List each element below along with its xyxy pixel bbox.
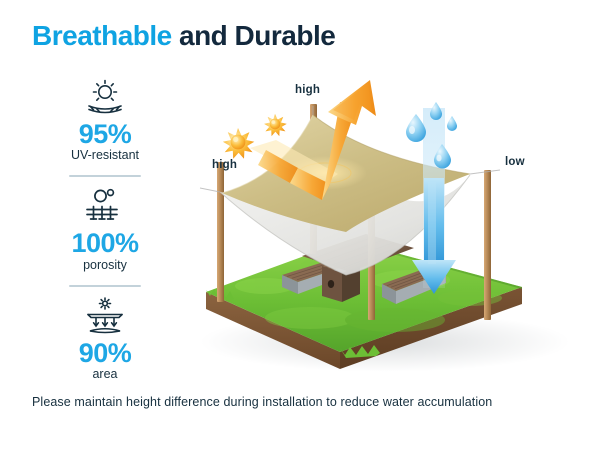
- label-low-right: low: [505, 156, 525, 168]
- stat-value: 90%: [40, 339, 170, 367]
- stat-value: 100%: [40, 229, 170, 257]
- stat-divider: [69, 285, 141, 287]
- sun-over-fabric-icon: [40, 78, 170, 118]
- post-left: [217, 162, 224, 302]
- title-rest: and Durable: [172, 20, 336, 51]
- slide-canvas: Breathable and Durable: [0, 0, 600, 450]
- stat-label: porosity: [40, 258, 170, 273]
- title-highlight: Breathable: [32, 20, 172, 51]
- label-high-left: high: [212, 159, 237, 171]
- stat-label: UV-resistant: [40, 148, 170, 163]
- stat-value: 95%: [40, 120, 170, 148]
- stat-area: 90% area: [40, 297, 170, 382]
- stat-porosity: 100% porosity: [40, 187, 170, 272]
- shade-coverage-icon: [40, 297, 170, 337]
- post-right: [484, 170, 491, 320]
- shade-sail-installation-diagram: high high low: [170, 70, 590, 380]
- caption-note: Please maintain height difference during…: [32, 395, 492, 409]
- stats-column: 95% UV-resistant: [40, 78, 170, 382]
- stat-divider: [69, 175, 141, 177]
- mesh-porosity-icon: [40, 187, 170, 227]
- label-high-top: high: [295, 84, 320, 96]
- stat-uv-resistant: 95% UV-resistant: [40, 78, 170, 163]
- page-title: Breathable and Durable: [32, 20, 335, 52]
- stat-label: area: [40, 367, 170, 382]
